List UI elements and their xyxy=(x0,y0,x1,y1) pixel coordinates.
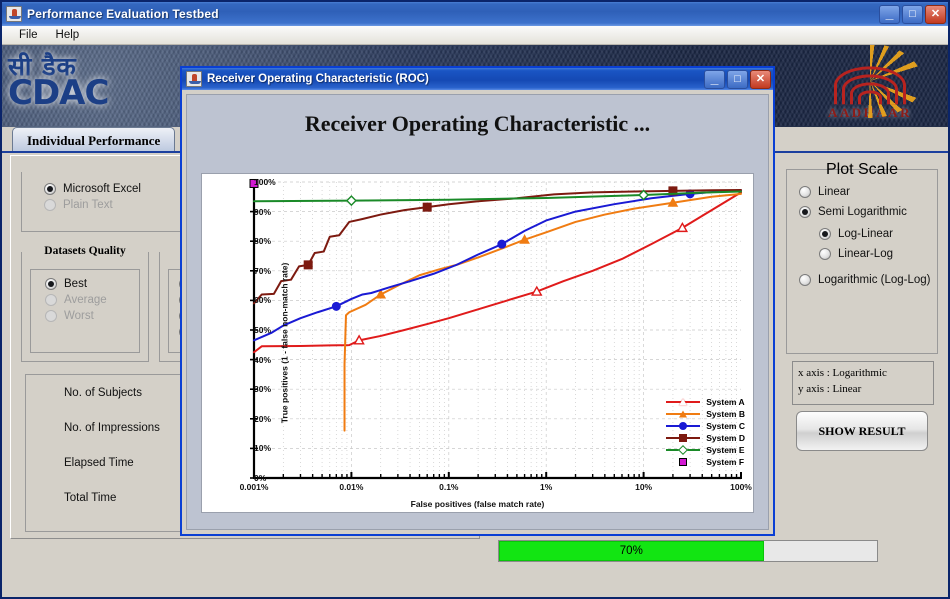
chart-title: Receiver Operating Characteristic ... xyxy=(187,95,768,137)
minimize-icon: _ xyxy=(705,71,724,88)
radio-label: Logarithmic (Log-Log) xyxy=(818,274,931,286)
radio-label: Worst xyxy=(64,310,94,322)
window-controls: _ □ ✕ xyxy=(879,5,946,24)
radio-semi-logarithmic[interactable]: Semi Logarithmic xyxy=(787,202,937,222)
fingerprint-icon xyxy=(824,52,916,104)
legend-item: System B xyxy=(666,408,745,420)
dialog-window-controls: _ □ ✕ xyxy=(704,70,771,89)
series-line-2 xyxy=(254,190,741,340)
radio-worst: Worst xyxy=(31,308,139,324)
legend-marker-icon xyxy=(679,422,687,430)
right-panel: Plot Scale Linear Semi Logarithmic Log-L… xyxy=(782,155,942,539)
legend-swatch xyxy=(666,425,700,428)
radio-label: Average xyxy=(64,294,107,306)
y-axis-tick: 20% xyxy=(254,414,259,424)
datasets-quality-title: Datasets Quality xyxy=(22,245,148,257)
progress-bar: 70% xyxy=(498,540,878,562)
java-icon xyxy=(6,6,22,22)
legend-swatch xyxy=(666,461,700,464)
radio-icon xyxy=(819,228,831,240)
x-axis-tick: 1% xyxy=(540,478,552,492)
minimize-icon: _ xyxy=(880,6,899,23)
dialog-minimize-button[interactable]: _ xyxy=(704,70,725,89)
y-axis-tick: 70% xyxy=(254,266,259,276)
radio-logarithmic[interactable]: Logarithmic (Log-Log) xyxy=(787,264,937,288)
aadhaar-logo: AADHAAR xyxy=(800,47,940,125)
y-axis-tick: 30% xyxy=(254,384,259,394)
progress-bar-text: 70% xyxy=(500,542,763,560)
legend-label: System B xyxy=(706,409,745,419)
radio-best[interactable]: Best xyxy=(31,276,139,292)
radio-average: Average xyxy=(31,292,139,308)
menubar: File Help xyxy=(2,26,948,45)
dialog-body: Receiver Operating Characteristic ... 0%… xyxy=(186,94,769,530)
progress-bar-fill: 70% xyxy=(499,541,764,561)
radio-label: Best xyxy=(64,278,87,290)
radio-label: Plain Text xyxy=(63,199,113,211)
roc-dialog: Receiver Operating Characteristic (ROC) … xyxy=(180,66,775,536)
window-title: Performance Evaluation Testbed xyxy=(27,7,879,21)
x-axis-tick: 0.001% xyxy=(240,478,269,492)
x-axis-label: False positives (false match rate) xyxy=(202,499,753,509)
show-result-label: SHOW RESULT xyxy=(818,424,905,439)
x-axis-tick: 0.1% xyxy=(439,478,458,492)
roc-plot-area: 0%10%20%30%40%50%60%70%80%90%100%0.001%0… xyxy=(201,173,754,513)
datasets-quality-inner: Best Average Worst xyxy=(30,269,140,353)
series-marker-4 xyxy=(347,196,356,205)
legend-item: System A xyxy=(666,396,745,408)
legend-item: System D xyxy=(666,432,745,444)
x-axis-tick: 10% xyxy=(635,478,652,492)
legend-marker-icon xyxy=(679,399,687,406)
radio-label: Linear-Log xyxy=(838,248,893,260)
menu-item-file[interactable]: File xyxy=(10,27,47,43)
dialog-close-button[interactable]: ✕ xyxy=(750,70,771,89)
legend-label: System A xyxy=(706,397,744,407)
tab-label: Individual Performance xyxy=(27,133,160,149)
dialog-title: Receiver Operating Characteristic (ROC) xyxy=(207,73,704,85)
chart-legend: System ASystem BSystem CSystem DSystem E… xyxy=(666,396,745,468)
series-marker-2 xyxy=(332,302,340,310)
close-button[interactable]: ✕ xyxy=(925,5,946,24)
radio-linear-log[interactable]: Linear-Log xyxy=(787,244,937,264)
legend-item: System F xyxy=(666,456,745,468)
y-axis-tick: 80% xyxy=(254,236,259,246)
legend-marker-icon xyxy=(679,458,687,466)
maximize-icon: □ xyxy=(728,71,747,88)
y-axis-tick: 90% xyxy=(254,207,259,217)
close-icon: ✕ xyxy=(751,71,770,88)
radio-log-linear[interactable]: Log-Linear xyxy=(787,222,937,244)
radio-icon xyxy=(45,278,57,290)
maximize-button[interactable]: □ xyxy=(902,5,923,24)
maximize-icon: □ xyxy=(903,6,922,23)
y-axis-label: True positives (1 - false non-match rate… xyxy=(279,263,289,424)
radio-label: Log-Linear xyxy=(838,228,893,240)
legend-label: System E xyxy=(706,445,744,455)
radio-icon xyxy=(799,186,811,198)
legend-swatch xyxy=(666,413,700,416)
legend-label: System C xyxy=(706,421,745,431)
fingerprint-arcs xyxy=(831,60,909,104)
minimize-button[interactable]: _ xyxy=(879,5,900,24)
dialog-maximize-button[interactable]: □ xyxy=(727,70,748,89)
series-marker-0 xyxy=(678,223,687,231)
legend-marker-icon xyxy=(678,445,688,455)
radio-label: Linear xyxy=(818,186,850,198)
menu-item-help[interactable]: Help xyxy=(47,27,89,43)
y-axis-tick: 100% xyxy=(254,177,259,187)
application-window: Performance Evaluation Testbed _ □ ✕ Fil… xyxy=(0,0,950,599)
y-axis-tick: 40% xyxy=(254,355,259,365)
legend-swatch xyxy=(666,437,700,440)
radio-icon xyxy=(819,248,831,260)
legend-label: System D xyxy=(706,433,745,443)
dialog-titlebar: Receiver Operating Characteristic (ROC) … xyxy=(182,68,773,90)
tab-individual-performance[interactable]: Individual Performance xyxy=(12,127,175,153)
legend-marker-icon xyxy=(679,434,687,442)
y-axis-tick: 50% xyxy=(254,325,259,335)
plot-scale-group: Plot Scale Linear Semi Logarithmic Log-L… xyxy=(786,169,938,354)
series-marker-2 xyxy=(498,240,506,248)
y-axis-tick: 60% xyxy=(254,295,259,305)
java-icon xyxy=(186,71,202,87)
axis-info-x: x axis : Logarithmic xyxy=(798,366,928,382)
y-axis-tick: 10% xyxy=(254,443,259,453)
radio-icon xyxy=(799,206,811,218)
series-marker-3 xyxy=(304,261,312,269)
radio-icon xyxy=(44,183,56,195)
x-axis-tick: 0.01% xyxy=(339,478,363,492)
legend-item: System E xyxy=(666,444,745,456)
series-marker-3 xyxy=(423,203,431,211)
radio-icon xyxy=(44,199,56,211)
roc-chart: 0%10%20%30%40%50%60%70%80%90%100%0.001%0… xyxy=(202,174,753,512)
legend-label: System F xyxy=(706,457,744,467)
legend-marker-icon xyxy=(679,411,687,418)
axis-info-y: y axis : Linear xyxy=(798,382,928,398)
legend-item: System C xyxy=(666,420,745,432)
plot-scale-title: Plot Scale xyxy=(787,161,937,179)
close-icon: ✕ xyxy=(926,6,945,23)
window-titlebar: Performance Evaluation Testbed _ □ ✕ xyxy=(2,2,948,26)
x-axis-tick: 100% xyxy=(730,478,752,492)
radio-icon xyxy=(45,310,57,322)
radio-label: Microsoft Excel xyxy=(63,183,141,195)
radio-linear[interactable]: Linear xyxy=(787,182,937,202)
radio-icon xyxy=(45,294,57,306)
legend-swatch xyxy=(666,449,700,452)
radio-label: Semi Logarithmic xyxy=(818,206,907,218)
axis-info-box: x axis : Logarithmic y axis : Linear xyxy=(792,361,934,405)
radio-icon xyxy=(799,274,811,286)
datasets-quality-group: Datasets Quality Best Average Worst xyxy=(21,252,149,362)
show-result-button[interactable]: SHOW RESULT xyxy=(796,411,928,451)
series-line-0 xyxy=(254,192,741,352)
legend-swatch xyxy=(666,401,700,404)
